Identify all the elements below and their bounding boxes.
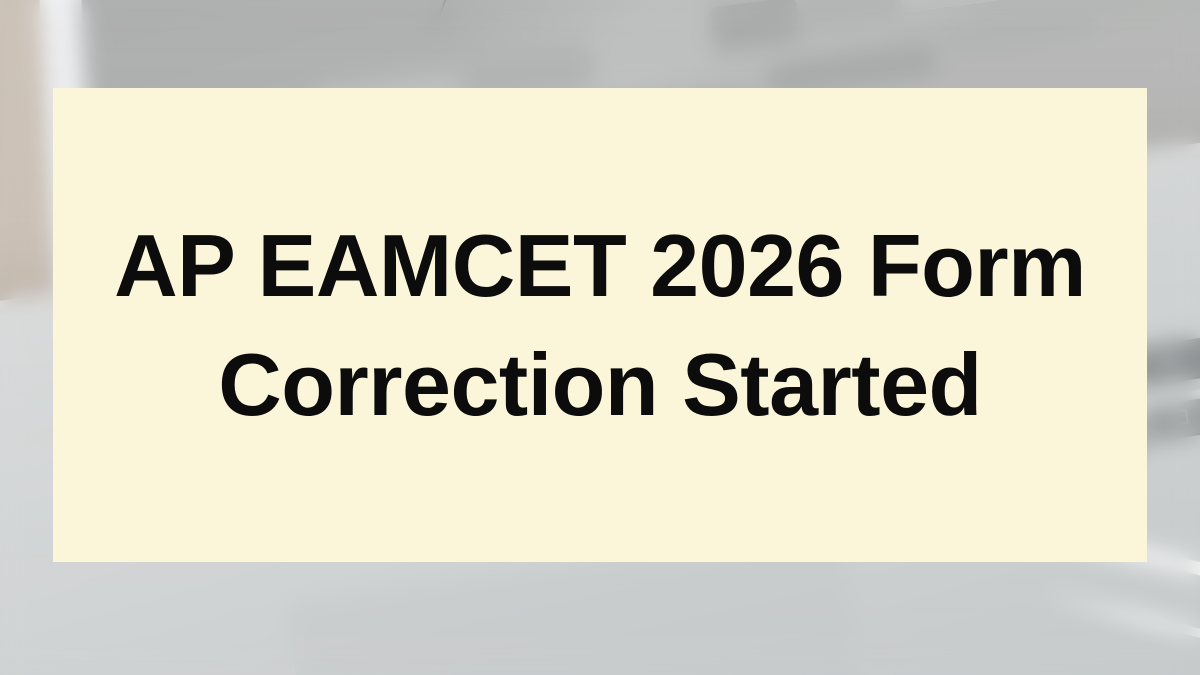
headline-line-2: Correction Started — [218, 325, 982, 444]
banner-image: AP EAMCET 2026 Form Correction Started — [0, 0, 1200, 675]
headline-card: AP EAMCET 2026 Form Correction Started — [53, 88, 1147, 562]
headline-line-1: AP EAMCET 2026 Form — [114, 206, 1086, 325]
